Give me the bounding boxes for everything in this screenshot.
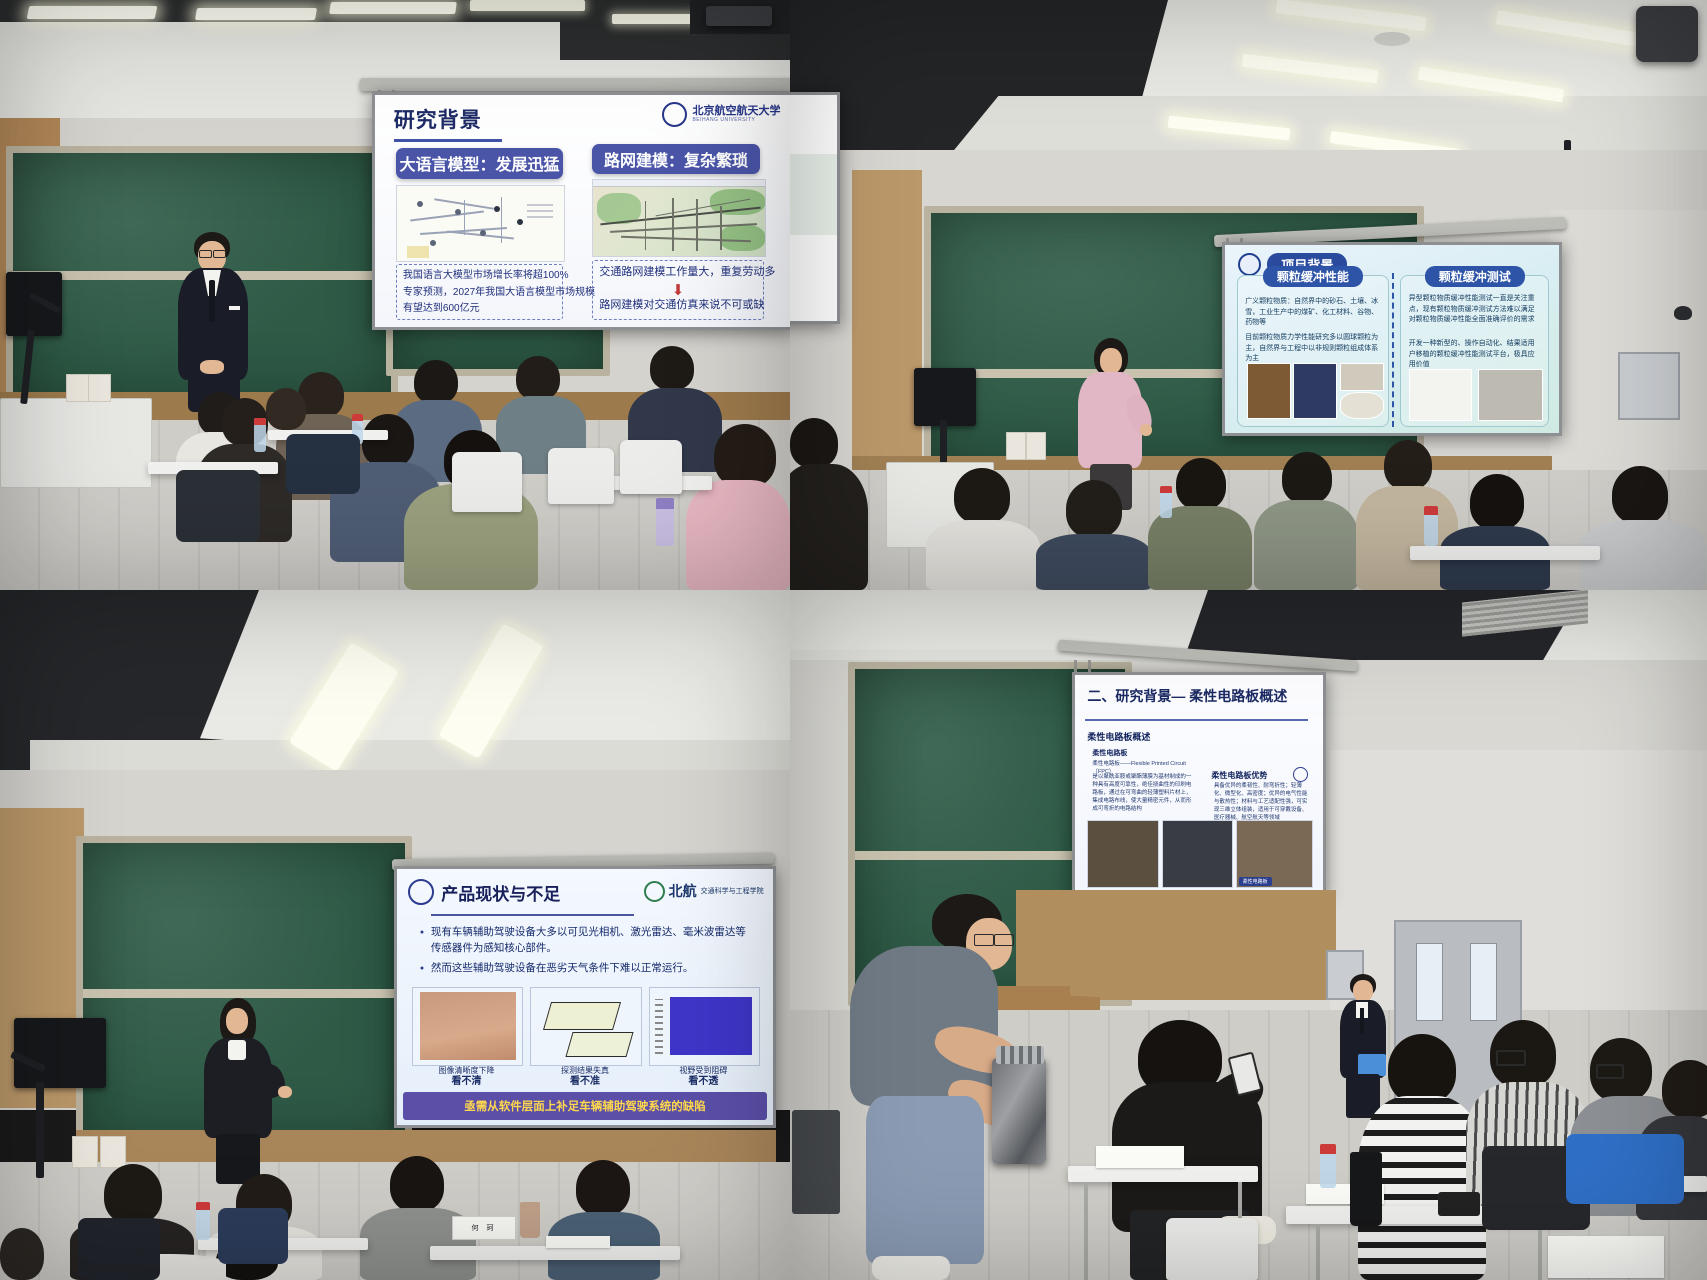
- figure-concrete-photo: [1478, 369, 1543, 421]
- projector: [706, 6, 772, 26]
- projector-screen: 产品现状与不足 北航 交通科学与工程学院 现有车辆辅助驾驶设备大多以可见光相机、…: [394, 866, 776, 1128]
- storage-box: [66, 374, 89, 402]
- university-seal-icon: [1293, 767, 1308, 782]
- collage-panel-top-left: 北京航空航天大学 BEIHANG UNIVERSITY 研究背景 大语言模型：发…: [0, 0, 790, 590]
- photo-collage: 北京航空航天大学 BEIHANG UNIVERSITY 研究背景 大语言模型：发…: [0, 0, 1707, 1280]
- water-bottle: [254, 418, 266, 452]
- paragraph-left-2: 是以聚酰亚胺或聚酯薄膜为基材制成的一种具有高度可靠性，绝佳挠曲性的印刷电路板，通…: [1092, 774, 1196, 814]
- paragraph-right-1: 具备优异的柔韧性、耐弯折性；轻薄化、微型化、高密度；优异的电气性能与散热性；材料…: [1214, 783, 1311, 823]
- note-right-line-2: 路网建模对交通仿真来说不可或缺: [599, 298, 756, 313]
- face: [226, 1008, 248, 1034]
- glasses-icon: [1496, 1050, 1526, 1066]
- slide-title: 研究背景: [394, 104, 482, 134]
- white-blouse: [228, 1040, 246, 1060]
- slide-product-status: 产品现状与不足 北航 交通科学与工程学院 现有车辆辅助驾驶设备大多以可见光相机、…: [397, 869, 773, 1125]
- computer-monitor: [14, 1018, 106, 1088]
- face: [1353, 980, 1373, 1002]
- column-header-right: 颗粒缓冲测试: [1425, 266, 1525, 287]
- clasped-hands: [200, 360, 224, 374]
- ceiling-speaker: [1374, 32, 1410, 46]
- projector-screen: 二、研究背景— 柔性电路板概述 柔性电路板概述 柔性电路板 柔性电路板——Fle…: [1072, 672, 1326, 898]
- backpack: [176, 470, 260, 542]
- storage-box: [100, 1136, 126, 1168]
- ceiling-lamp: [195, 8, 317, 20]
- wall-control-panel: [1618, 352, 1680, 420]
- paragraph-left-1: 广义颗粒物质：自然界中的砂石、土壤、冰雪，工业生产中的煤矿、化工材料、谷物、药物…: [1245, 297, 1380, 329]
- figure-distorted-detection: [530, 987, 641, 1066]
- chair: [620, 440, 682, 494]
- water-bottle: [656, 498, 674, 546]
- name-plate: 何 珂: [452, 1216, 516, 1240]
- figure-blocked-view: [649, 987, 760, 1066]
- figure-network-diagram: [396, 185, 565, 261]
- slide-bullet-1: 现有车辆辅助驾驶设备大多以可见光相机、激光雷达、毫米波雷达等传感器件为感知核心部…: [431, 925, 747, 957]
- university-logo: 北京航空航天大学 BEIHANG UNIVERSITY: [662, 102, 780, 127]
- collage-panel-bottom-right: 二、研究背景— 柔性电路板概述 柔性电路板概述 柔性电路板 柔性电路板——Fle…: [790, 590, 1707, 1280]
- slide-banner: 亟需从软件层面上补足车辆辅助驾驶系统的缺陷: [403, 1092, 768, 1120]
- column-divider: [1392, 273, 1394, 427]
- figure-caption-3: 视野受到阻碍 看不透: [649, 1066, 758, 1089]
- down-arrow-icon: ⬇: [599, 283, 756, 298]
- slide-title: 产品现状与不足: [441, 880, 560, 905]
- projector: [1636, 6, 1698, 62]
- figure-caption-1: 图像清晰度下降 看不清: [412, 1066, 521, 1089]
- university-seal-icon: [662, 102, 687, 127]
- chair: [1166, 1218, 1258, 1280]
- glasses-icon: [974, 934, 994, 946]
- slide-research-background: 北京航空航天大学 BEIHANG UNIVERSITY 研究背景 大语言模型：发…: [375, 95, 790, 327]
- glasses-icon: [213, 250, 226, 258]
- monitor-arm: [36, 1082, 44, 1178]
- paragraph-right-1: 异型颗粒物质缓冲性能测试一直是关注重点，现有颗粒物质缓冲测试方法难以满足对颗粒物…: [1409, 294, 1541, 326]
- slide-header-left: 大语言模型：发展迅猛: [396, 148, 563, 178]
- figure-soil-photo: [1247, 363, 1291, 419]
- backpack: [218, 1208, 288, 1264]
- document-stack: [1548, 1236, 1664, 1278]
- slide-column-left: 颗粒缓冲性能 广义颗粒物质：自然界中的砂石、土壤、冰雪，工业生产中的煤矿、化工材…: [1237, 275, 1389, 427]
- section-heading-left: 柔性电路板概述: [1087, 730, 1150, 743]
- title-rule: [1085, 719, 1308, 721]
- document-stack: [546, 1236, 610, 1248]
- caption-label-1: 图像清晰度下降: [439, 1066, 495, 1075]
- ceiling-lamp: [470, 0, 585, 11]
- prototype-fingers: [996, 1046, 1044, 1064]
- caption-bold-3: 看不透: [649, 1076, 758, 1089]
- figure-pcb-photo-2: [1162, 820, 1233, 888]
- logo-name-cn: 北京航空航天大学: [692, 106, 780, 118]
- storage-box: [1006, 432, 1026, 460]
- brand-name: 北航: [669, 881, 697, 901]
- water-bottle: [1160, 486, 1172, 518]
- water-bottle: [1320, 1144, 1336, 1188]
- projector-screen-roller: [360, 78, 790, 91]
- backpack: [78, 1218, 160, 1280]
- school-seal-icon: [644, 881, 665, 902]
- door-window: [1470, 943, 1497, 1021]
- figure-road-network-map: [592, 179, 765, 258]
- logo-name-en: BEIHANG UNIVERSITY: [692, 117, 780, 123]
- smartphone-on-desk: [1438, 1192, 1480, 1216]
- chair: [548, 448, 614, 504]
- person-holding-prototype: [850, 890, 1100, 1280]
- hand-with-clicker: [278, 1086, 292, 1098]
- note-right-line-1: 交通路网建模工作量大，重复劳动多: [599, 265, 756, 280]
- water-bottle: [1424, 506, 1438, 546]
- caption-label-2: 探测结果失真: [561, 1066, 609, 1075]
- robotic-hand-prototype: [992, 1058, 1046, 1164]
- lectern: [0, 398, 152, 488]
- note-left-line-3: 有望达到600亿元: [403, 302, 556, 316]
- necktie: [1360, 1008, 1364, 1034]
- note-left-line-2: 专家预测，2027年我国大语言模型市场规模: [403, 286, 556, 300]
- figure-tag: 柔性电路板: [1239, 877, 1272, 886]
- presenter-male-suit: [172, 232, 262, 408]
- glasses-icon: [994, 934, 1014, 946]
- standing-student-suit: [1336, 974, 1390, 1118]
- note-left-line-1: 我国语言大模型市场增长率将超100%: [403, 269, 556, 283]
- jeans: [866, 1096, 984, 1264]
- backpack: [286, 434, 360, 494]
- caption-bold-2: 看不准: [530, 1076, 639, 1089]
- slide-bullet-2: 然而这些辅助驾驶设备在恶劣天气条件下难以正常运行。: [431, 961, 747, 977]
- figure-degraded-image: [412, 987, 523, 1066]
- thermos-tumbler: [1350, 1152, 1382, 1226]
- title-rule: [394, 139, 503, 142]
- ceiling-lamp: [329, 2, 457, 14]
- slide-flexible-pcb: 二、研究背景— 柔性电路板概述 柔性电路板概述 柔性电路板 柔性电路板——Fle…: [1075, 675, 1323, 895]
- chair: [452, 452, 522, 512]
- projector-screen: 北京航空航天大学 BEIHANG UNIVERSITY 研究背景 大语言模型：发…: [372, 92, 790, 330]
- caption-bold-1: 看不清: [412, 1076, 521, 1089]
- figure-granules-photo: [1340, 363, 1384, 391]
- storage-box: [1026, 432, 1046, 460]
- subheading-left: 柔性电路板: [1092, 748, 1127, 758]
- paragraph-right-2: 开发一种新型的、操作自动化、结果适用户移植的颗粒缓冲性能测试平台，极具应用价值: [1409, 339, 1541, 371]
- security-camera: [1674, 306, 1692, 320]
- collage-panel-bottom-left: 产品现状与不足 北航 交通科学与工程学院 现有车辆辅助驾驶设备大多以可见光相机、…: [0, 590, 790, 1280]
- face: [1100, 348, 1122, 374]
- title-rule: [431, 914, 634, 916]
- necktie: [209, 280, 215, 322]
- storage-box: [88, 374, 111, 402]
- trash-bin: [792, 1110, 840, 1214]
- note-box-left: 我国语言大模型市场增长率将超100% 专家预测，2027年我国大语言模型市场规模…: [396, 264, 563, 320]
- figure-pcb-photo-1: [1087, 820, 1158, 888]
- student-desk: [1410, 546, 1600, 560]
- student-desk: [430, 1246, 680, 1260]
- section-heading-right: 柔性电路板优势: [1211, 770, 1267, 781]
- university-seal-icon: [1238, 253, 1261, 276]
- slide-title-group: 产品现状与不足: [408, 879, 560, 905]
- projector-screen: 项目背景 颗粒缓冲性能 广义颗粒物质：自然界中的砂石、土壤、冰雪，工业生产中的煤…: [1222, 242, 1562, 436]
- column-header-left: 颗粒缓冲性能: [1263, 266, 1363, 287]
- ceiling-lamp: [27, 6, 158, 19]
- door-window: [1416, 943, 1443, 1021]
- presenter-female-black-suit: [196, 998, 280, 1178]
- jacket-on-chair: [1566, 1134, 1684, 1204]
- hand: [1140, 424, 1152, 436]
- figure-test-rig-diagram: [1409, 369, 1473, 421]
- document-stack: [1096, 1146, 1184, 1168]
- school-brand: 北航 交通科学与工程学院: [644, 881, 764, 902]
- pocket-square: [229, 306, 240, 310]
- slide-column-right: 颗粒缓冲测试 异型颗粒物质缓冲性能测试一直是关注重点，现有颗粒物质缓冲测试方法难…: [1400, 275, 1549, 427]
- water-bottle: [196, 1202, 210, 1240]
- student-desk: [1068, 1166, 1258, 1182]
- road-map-graphic: [593, 180, 764, 257]
- caption-label-3: 视野受到阻碍: [679, 1066, 727, 1075]
- sneaker: [872, 1256, 950, 1280]
- storage-box: [72, 1136, 98, 1168]
- note-box-right: 交通路网建模工作量大，重复劳动多 ⬇ 路网建模对交通仿真来说不可或缺: [592, 260, 763, 320]
- coffee-cup: [520, 1202, 540, 1238]
- metro-map-graphic: [397, 186, 564, 260]
- paragraph-left-2: 目前颗粒物质力学性能研究多以圆球颗粒为主，自然界与工程中以非规则颗粒组成体系为主: [1245, 333, 1380, 365]
- university-seal-icon: [408, 879, 434, 905]
- figure-caption-2: 探测结果失真 看不准: [530, 1066, 639, 1089]
- slide-header-right: 路网建模：复杂繁琐: [592, 144, 759, 174]
- blue-folder: [1358, 1054, 1386, 1076]
- secondary-screen: 大学: [790, 92, 840, 324]
- computer-monitor: [914, 368, 976, 426]
- collage-panel-top-right: 大学 项目背景 颗粒缓冲性能 广义颗粒物质：自然界中的砂石、土壤、: [790, 0, 1707, 590]
- brand-subtitle: 交通科学与工程学院: [701, 886, 764, 896]
- glasses-icon: [199, 250, 212, 258]
- figure-sandpile-photo: [1293, 363, 1337, 419]
- slide-project-background: 项目背景 颗粒缓冲性能 广义颗粒物质：自然界中的砂石、土壤、冰雪，工业生产中的煤…: [1225, 245, 1559, 433]
- slide-title: 二、研究背景— 柔性电路板概述: [1087, 686, 1287, 706]
- figure-pellets-photo: [1340, 392, 1384, 420]
- glasses-icon: [1596, 1064, 1624, 1079]
